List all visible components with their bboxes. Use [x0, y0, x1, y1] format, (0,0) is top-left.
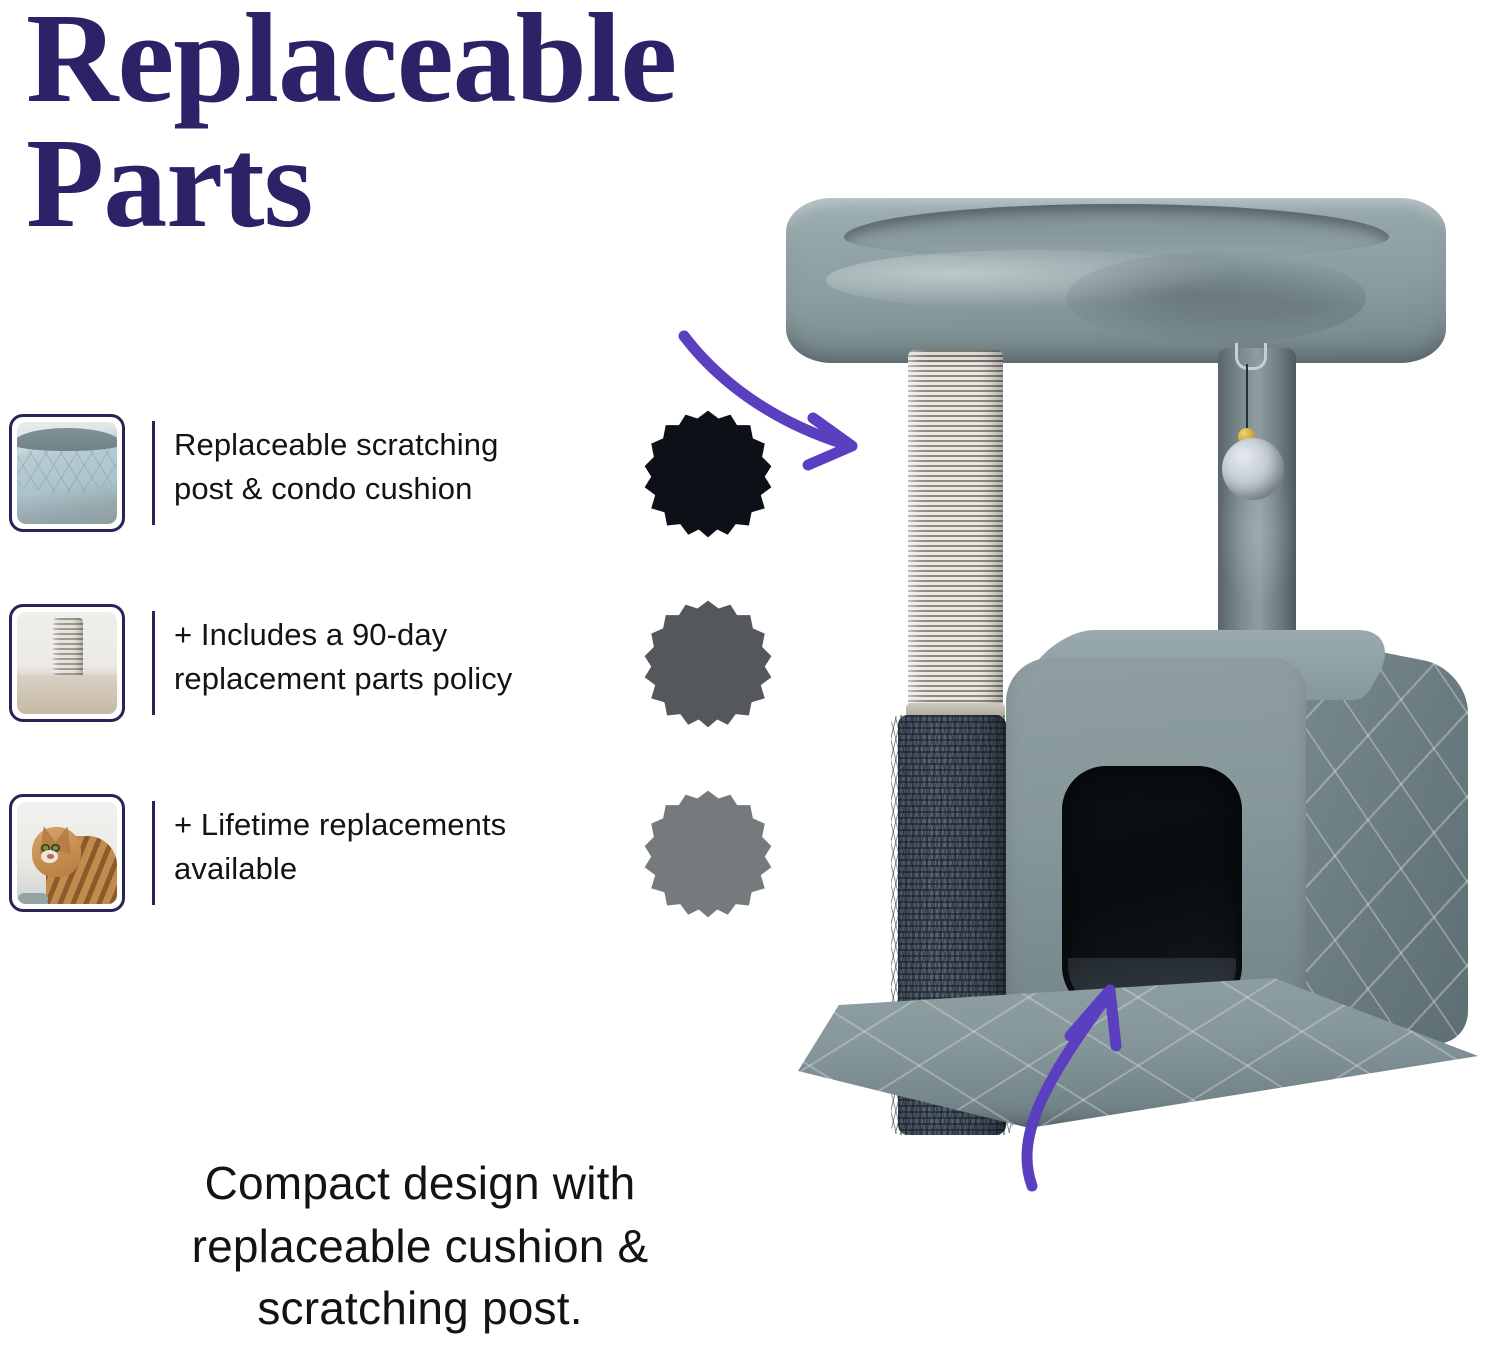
sisal-scratching-post-photo	[17, 612, 117, 714]
arrow-to-condo-entrance	[1000, 940, 1230, 1190]
feature-divider	[152, 611, 155, 715]
feature-thumbnail-cat	[9, 794, 125, 912]
infographic-root: Replaceable Parts Replaceable scratching…	[0, 0, 1500, 1357]
feature-row: Replaceable scratching post & condo cush…	[0, 405, 660, 595]
feature-divider	[152, 801, 155, 905]
sisal-scratching-post	[908, 350, 1003, 708]
toy-string	[1246, 364, 1248, 438]
cat-floor-edge	[18, 893, 49, 904]
feature-row: + Includes a 90-day replacement parts po…	[0, 595, 660, 785]
feature-label: + Lifetime replacements available	[174, 803, 644, 891]
color-swatch-2	[642, 598, 774, 730]
feature-thumbnail-post	[9, 604, 125, 722]
tabby-cat-photo	[17, 802, 117, 904]
bed-shading	[1066, 252, 1366, 344]
feature-row: + Lifetime replacements available	[0, 785, 660, 975]
arrow-to-scratching-post	[676, 326, 916, 476]
feature-list: Replaceable scratching post & condo cush…	[0, 405, 660, 975]
feature-divider	[152, 421, 155, 525]
quilted-cushion-photo	[17, 422, 117, 524]
feature-label: + Includes a 90-day replacement parts po…	[174, 613, 644, 701]
feature-thumbnail-cushion	[9, 414, 125, 532]
hanging-pompom-toy	[1222, 438, 1284, 500]
toy-hook-icon	[1235, 343, 1267, 370]
page-title: Replaceable Parts	[26, 0, 826, 247]
cat-head	[32, 827, 81, 877]
color-swatch-3	[642, 788, 774, 920]
cat-illustration	[23, 814, 113, 904]
bottom-caption: Compact design with replaceable cushion …	[100, 1152, 740, 1340]
feature-label: Replaceable scratching post & condo cush…	[174, 423, 644, 511]
